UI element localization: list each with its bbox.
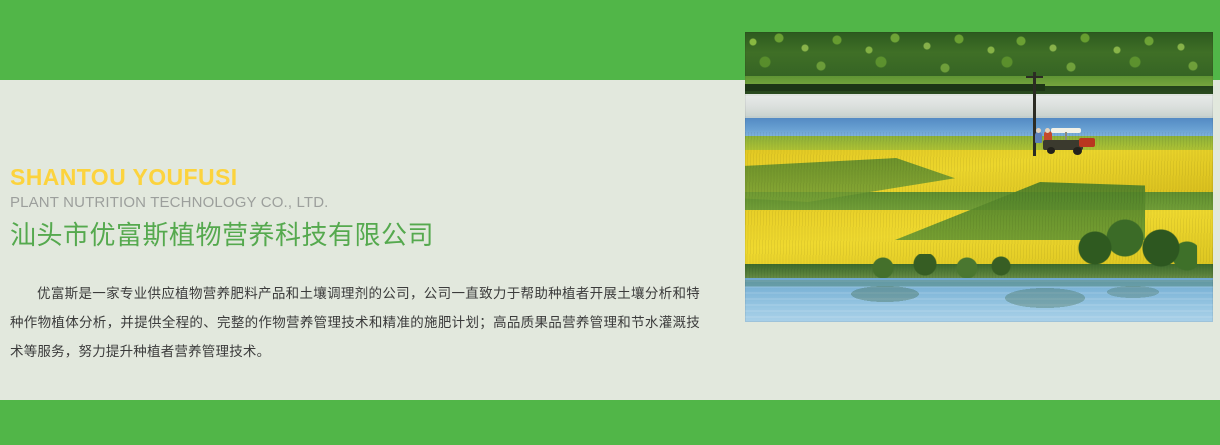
company-intro-block: SHANTOU YOUFUSI PLANT NUTRITION TECHNOLO… (10, 163, 710, 366)
company-name-english: SHANTOU YOUFUSI (10, 163, 710, 191)
company-tagline-english: PLANT NUTRITION TECHNOLOGY CO., LTD. (10, 193, 710, 213)
farmland-photo (745, 32, 1213, 322)
company-name-chinese: 汕头市优富斯植物营养科技有限公司 (10, 219, 710, 253)
bottom-green-band (0, 400, 1220, 445)
about-page: SHANTOU YOUFUSI PLANT NUTRITION TECHNOLO… (0, 0, 1220, 445)
company-description-paragraph: 优富斯是一家专业供应植物营养肥料产品和土壤调理剂的公司，公司一直致力于帮助种植者… (10, 279, 700, 366)
photo-border (745, 32, 1213, 322)
